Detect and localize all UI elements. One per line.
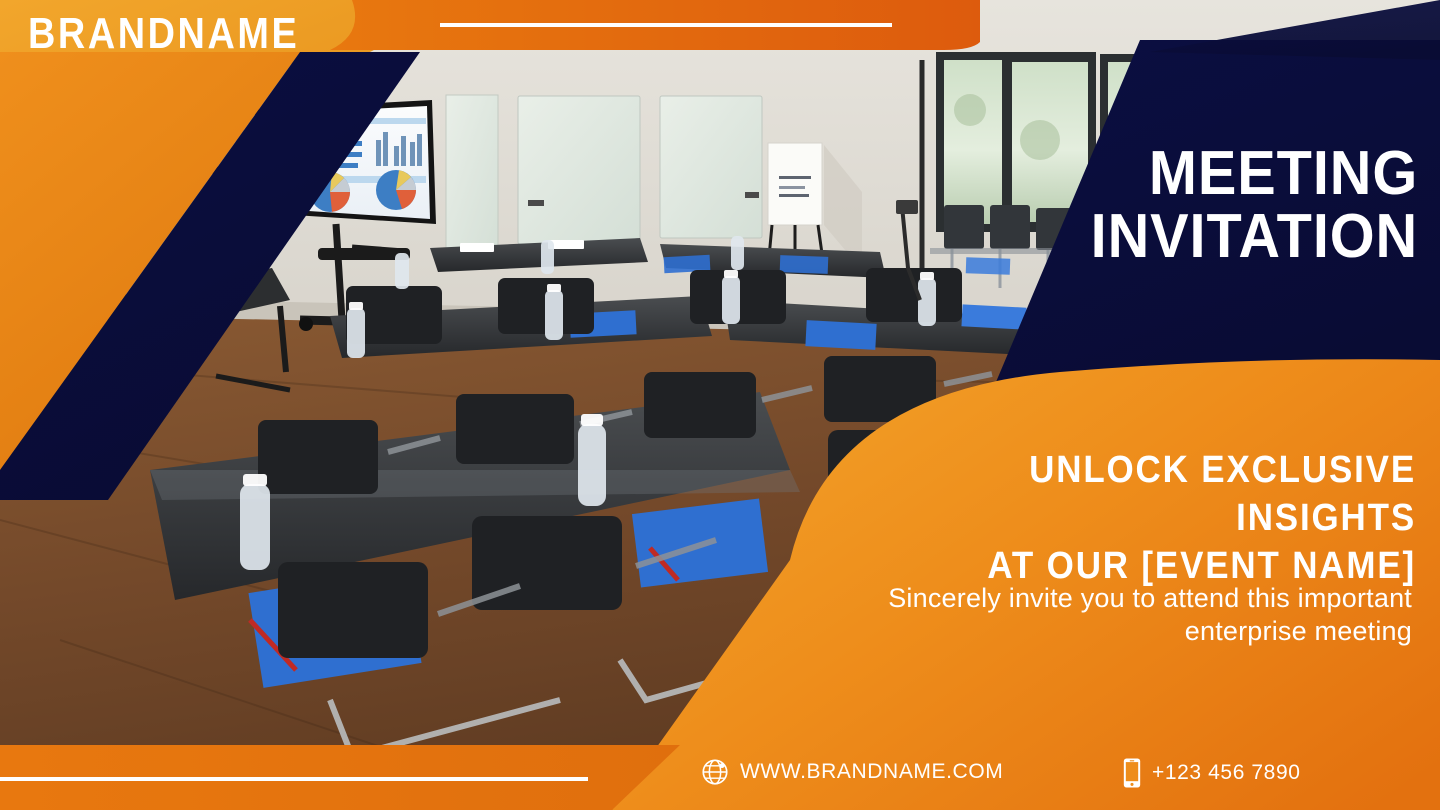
- headline-line2: AT OUR [EVENT NAME]: [987, 545, 1416, 587]
- brand-graphic-overlay: [0, 0, 1440, 810]
- meeting-invitation-poster: BRANDNAME MEETING INVITATION UNLOCK EXCL…: [0, 0, 1440, 810]
- footer-website[interactable]: WWW.BRANDNAME.COM: [700, 757, 1003, 787]
- header-white-rule: [440, 23, 892, 27]
- globe-icon: [700, 757, 730, 787]
- footer-website-text: WWW.BRANDNAME.COM: [740, 760, 1003, 784]
- headline: UNLOCK EXCLUSIVE INSIGHTS AT OUR [EVENT …: [864, 446, 1416, 590]
- mobile-phone-icon: [1122, 757, 1142, 789]
- brand-logo-text: BRANDNAME: [28, 8, 299, 60]
- footer-phone[interactable]: +123 456 7890: [1122, 757, 1301, 789]
- page-title-line1: MEETING: [1149, 139, 1418, 208]
- footer-white-rule: [0, 777, 588, 781]
- invitation-subtext: Sincerely invite you to attend this impo…: [802, 582, 1412, 648]
- headline-line1: UNLOCK EXCLUSIVE INSIGHTS: [1029, 449, 1416, 539]
- page-title: MEETING INVITATION: [1091, 142, 1418, 268]
- footer-phone-text: +123 456 7890: [1152, 761, 1301, 785]
- page-title-line2: INVITATION: [1091, 205, 1418, 268]
